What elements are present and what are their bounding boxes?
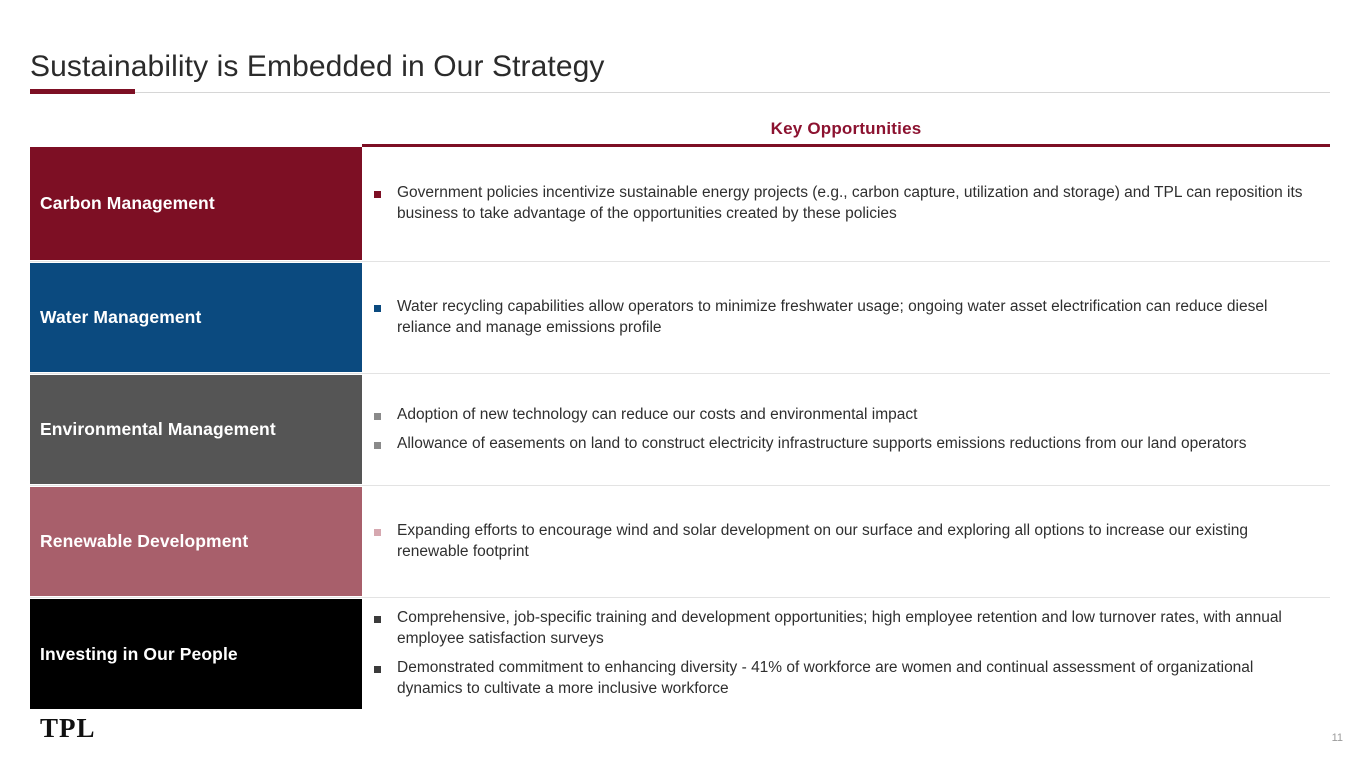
opportunity-list: Water recycling capabilities allow opera… xyxy=(362,262,1330,373)
opportunity-text: Adoption of new technology can reduce ou… xyxy=(397,405,917,426)
title-divider xyxy=(30,92,1330,93)
list-item: Water recycling capabilities allow opera… xyxy=(374,297,1316,339)
opportunity-text: Water recycling capabilities allow opera… xyxy=(397,297,1316,339)
opportunity-text: Comprehensive, job-specific training and… xyxy=(397,608,1316,650)
list-item: Adoption of new technology can reduce ou… xyxy=(374,405,1316,426)
page-number: 11 xyxy=(1332,732,1343,744)
table-row: Renewable DevelopmentExpanding efforts t… xyxy=(30,486,1330,598)
table-row: Water ManagementWater recycling capabili… xyxy=(30,262,1330,374)
list-item: Demonstrated commitment to enhancing div… xyxy=(374,658,1316,700)
opportunity-text: Allowance of easements on land to constr… xyxy=(397,434,1246,455)
opportunity-text: Expanding efforts to encourage wind and … xyxy=(397,521,1316,563)
category-tile[interactable]: Renewable Development xyxy=(30,487,362,596)
list-item: Comprehensive, job-specific training and… xyxy=(374,608,1316,650)
category-label: Carbon Management xyxy=(40,193,215,214)
category-tile[interactable]: Environmental Management xyxy=(30,375,362,484)
category-tile[interactable]: Carbon Management xyxy=(30,147,362,260)
page-title: Sustainability is Embedded in Our Strate… xyxy=(30,50,605,84)
table-row: Environmental ManagementAdoption of new … xyxy=(30,374,1330,486)
opportunity-list: Expanding efforts to encourage wind and … xyxy=(362,486,1330,597)
list-item: Government policies incentivize sustaina… xyxy=(374,183,1316,225)
tpl-logo: TPL xyxy=(40,713,96,744)
category-label: Water Management xyxy=(40,307,201,328)
category-label: Investing in Our People xyxy=(40,644,238,665)
square-bullet-icon xyxy=(374,529,381,536)
opportunity-list: Comprehensive, job-specific training and… xyxy=(362,598,1330,710)
square-bullet-icon xyxy=(374,666,381,673)
category-label: Environmental Management xyxy=(40,419,276,440)
square-bullet-icon xyxy=(374,413,381,420)
title-accent-bar xyxy=(30,89,135,94)
opportunity-list: Adoption of new technology can reduce ou… xyxy=(362,374,1330,485)
category-tile[interactable]: Investing in Our People xyxy=(30,599,362,709)
list-item: Allowance of easements on land to constr… xyxy=(374,434,1316,455)
opportunity-list: Government policies incentivize sustaina… xyxy=(362,146,1330,261)
square-bullet-icon xyxy=(374,191,381,198)
category-tile[interactable]: Water Management xyxy=(30,263,362,372)
key-opportunities-header: Key Opportunities xyxy=(362,119,1330,139)
opportunity-text: Government policies incentivize sustaina… xyxy=(397,183,1316,225)
category-label: Renewable Development xyxy=(40,531,248,552)
table-row: Carbon ManagementGovernment policies inc… xyxy=(30,146,1330,262)
table-row: Investing in Our PeopleComprehensive, jo… xyxy=(30,598,1330,710)
square-bullet-icon xyxy=(374,616,381,623)
square-bullet-icon xyxy=(374,305,381,312)
list-item: Expanding efforts to encourage wind and … xyxy=(374,521,1316,563)
opportunities-table: Carbon ManagementGovernment policies inc… xyxy=(30,146,1330,710)
opportunity-text: Demonstrated commitment to enhancing div… xyxy=(397,658,1316,700)
square-bullet-icon xyxy=(374,442,381,449)
